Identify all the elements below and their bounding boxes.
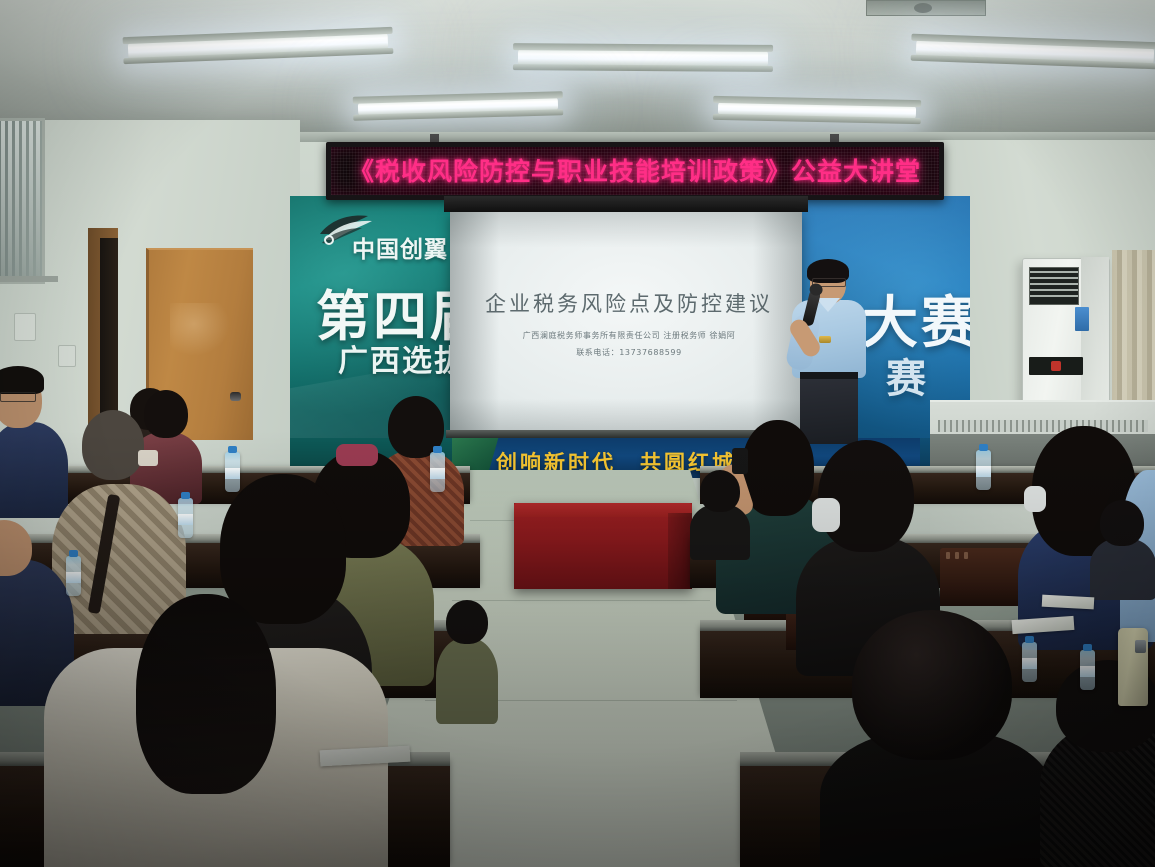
led-banner-text: 《税收风险防控与职业技能培训政策》公益大讲堂 xyxy=(349,159,921,184)
window-sill xyxy=(0,276,58,282)
air-conditioner-grille-icon xyxy=(1029,267,1079,305)
projection-screen: 企业税务风险点及防控建议 广西澜庭税务师事务所有限责任公司 注册税务师 徐娟阿 … xyxy=(450,212,802,434)
audience-member xyxy=(436,600,496,720)
audience-member-foreground xyxy=(44,600,384,867)
thermos-flask xyxy=(1118,628,1148,706)
ceiling-vent xyxy=(866,0,986,16)
wristwatch-icon xyxy=(819,336,831,343)
audience-member xyxy=(820,610,1050,867)
conference-room-photo: 中国创翼 第四届 广西选拔 大赛 赛 《税收风险防控与职业技能培训政策》公益大讲… xyxy=(0,0,1155,867)
window-with-blinds xyxy=(0,118,45,284)
air-conditioner-display-panel[interactable] xyxy=(1029,357,1083,375)
projection-screen-housing xyxy=(444,196,808,212)
water-bottle xyxy=(976,450,991,490)
audience-member xyxy=(1090,500,1154,596)
banner-contest-text-2: 赛 xyxy=(886,346,926,404)
red-covered-podium-table xyxy=(514,503,692,589)
ceiling-light-5 xyxy=(718,102,916,119)
door-handle[interactable] xyxy=(230,392,241,401)
air-conditioner-badge xyxy=(1075,307,1089,331)
led-scrolling-banner: 《税收风险防控与职业技能培训政策》公益大讲堂 xyxy=(326,142,944,200)
ceiling-light-4 xyxy=(358,97,558,115)
audience-member xyxy=(52,410,182,630)
ceiling-light-2 xyxy=(518,49,768,67)
water-bottle xyxy=(430,452,445,492)
ceiling-light-3 xyxy=(916,40,1154,64)
water-bottle xyxy=(66,556,81,596)
banner-brand-text: 中国创翼 xyxy=(352,230,448,264)
water-bottle xyxy=(225,452,240,492)
presenter xyxy=(770,262,882,444)
light-switch[interactable] xyxy=(14,313,36,341)
audience-member xyxy=(690,470,748,556)
door-opening xyxy=(100,238,118,433)
water-bottle xyxy=(1022,642,1037,682)
water-bottle xyxy=(178,498,193,538)
ceiling-light-1 xyxy=(128,33,388,59)
presenter-belt xyxy=(800,372,858,379)
banner-region-text: 广西选拔 xyxy=(338,336,466,380)
water-bottle xyxy=(1080,650,1095,690)
wall-socket xyxy=(58,345,76,367)
